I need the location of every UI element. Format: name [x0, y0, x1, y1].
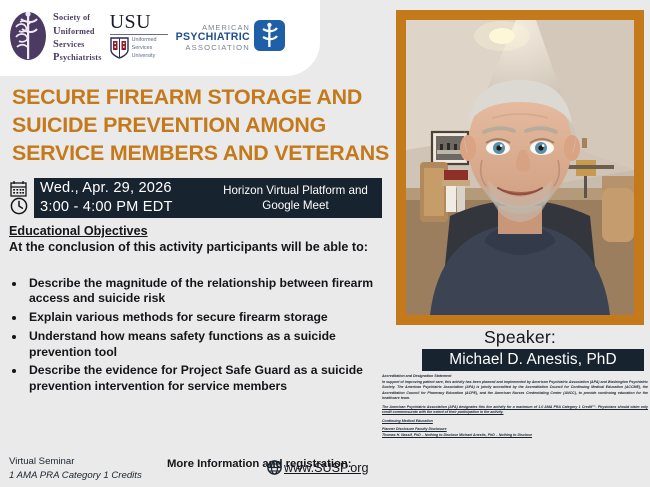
logo-susp: Society of Uniformed Services Psychiatri… [8, 9, 102, 68]
page-title: Secure Firearm Storage and Suicide Preve… [12, 84, 392, 167]
caduceus-brain-icon [8, 9, 48, 68]
list-item: Explain various methods for secure firea… [26, 310, 374, 325]
webinar-flyer: Society of Uniformed Services Psychiatri… [0, 0, 650, 487]
logo-apa-text: AMERICAN PSYCHIATRIC ASSOCIATION [176, 24, 250, 53]
event-date: Wed., Apr. 29, 2026 [40, 179, 209, 198]
event-time: 3:00 - 4:00 PM EDT [40, 198, 209, 217]
logo-bar: Society of Uniformed Services Psychiatri… [0, 0, 320, 76]
accreditation-heading: Accreditation and Designation Statement [382, 374, 648, 379]
usu-shield-icon [110, 37, 129, 64]
logo-usu-word: USU [110, 12, 152, 32]
list-item: Understand how means safety functions as… [26, 329, 374, 360]
cme-heading: Continuing Medical Education [382, 419, 648, 424]
event-datetime: Wed., Apr. 29, 2026 3:00 - 4:00 PM EDT [34, 179, 209, 216]
speaker-photo-frame [396, 10, 644, 325]
event-details: Wed., Apr. 29, 2026 3:00 - 4:00 PM EDT H… [34, 178, 382, 218]
list-item: Describe the evidence for Project Safe G… [26, 363, 374, 394]
event-platform: Horizon Virtual Platform and Google Meet [209, 183, 382, 213]
website-link[interactable]: www.SUSP.org [284, 461, 368, 475]
event-icons [8, 178, 34, 218]
apa-caduceus-icon [254, 20, 285, 56]
speaker-name: Michael D. Anestis, PhD [422, 349, 644, 371]
globe-icon [267, 460, 282, 480]
logo-usu-subtext: Uniformed Services University [132, 37, 157, 60]
disclosure-body: Thomas H. Nassif, PhD – Nothing to Discl… [382, 433, 648, 438]
logo-susp-text: Society of Uniformed Services Psychiatri… [53, 11, 102, 65]
clock-icon [10, 197, 28, 220]
avatar [406, 20, 634, 315]
seminar-type: Virtual Seminar [9, 455, 142, 469]
objectives-list: Describe the magnitude of the relationsh… [26, 276, 374, 398]
divider [110, 34, 168, 36]
accreditation-fineprint: Accreditation and Designation Statement … [382, 374, 648, 441]
credits-label: 1 AMA PRA Category 1 Credits [9, 469, 142, 483]
event-band: Wed., Apr. 29, 2026 3:00 - 4:00 PM EDT H… [8, 178, 382, 218]
logo-apa: AMERICAN PSYCHIATRIC ASSOCIATION [176, 20, 285, 56]
designation-statement: The American Psychiatric Association (AP… [382, 405, 648, 416]
objectives-intro: At the conclusion of this activity parti… [9, 240, 369, 256]
footer-left: Virtual Seminar 1 AMA PRA Category 1 Cre… [9, 455, 142, 483]
speaker-label: Speaker: [396, 327, 644, 348]
list-item: Describe the magnitude of the relationsh… [26, 276, 374, 307]
objectives-heading: Educational Objectives [9, 224, 148, 238]
accreditation-body: In support of improving patient care, th… [382, 380, 648, 400]
logo-usu: USU Uniformed [110, 12, 168, 65]
